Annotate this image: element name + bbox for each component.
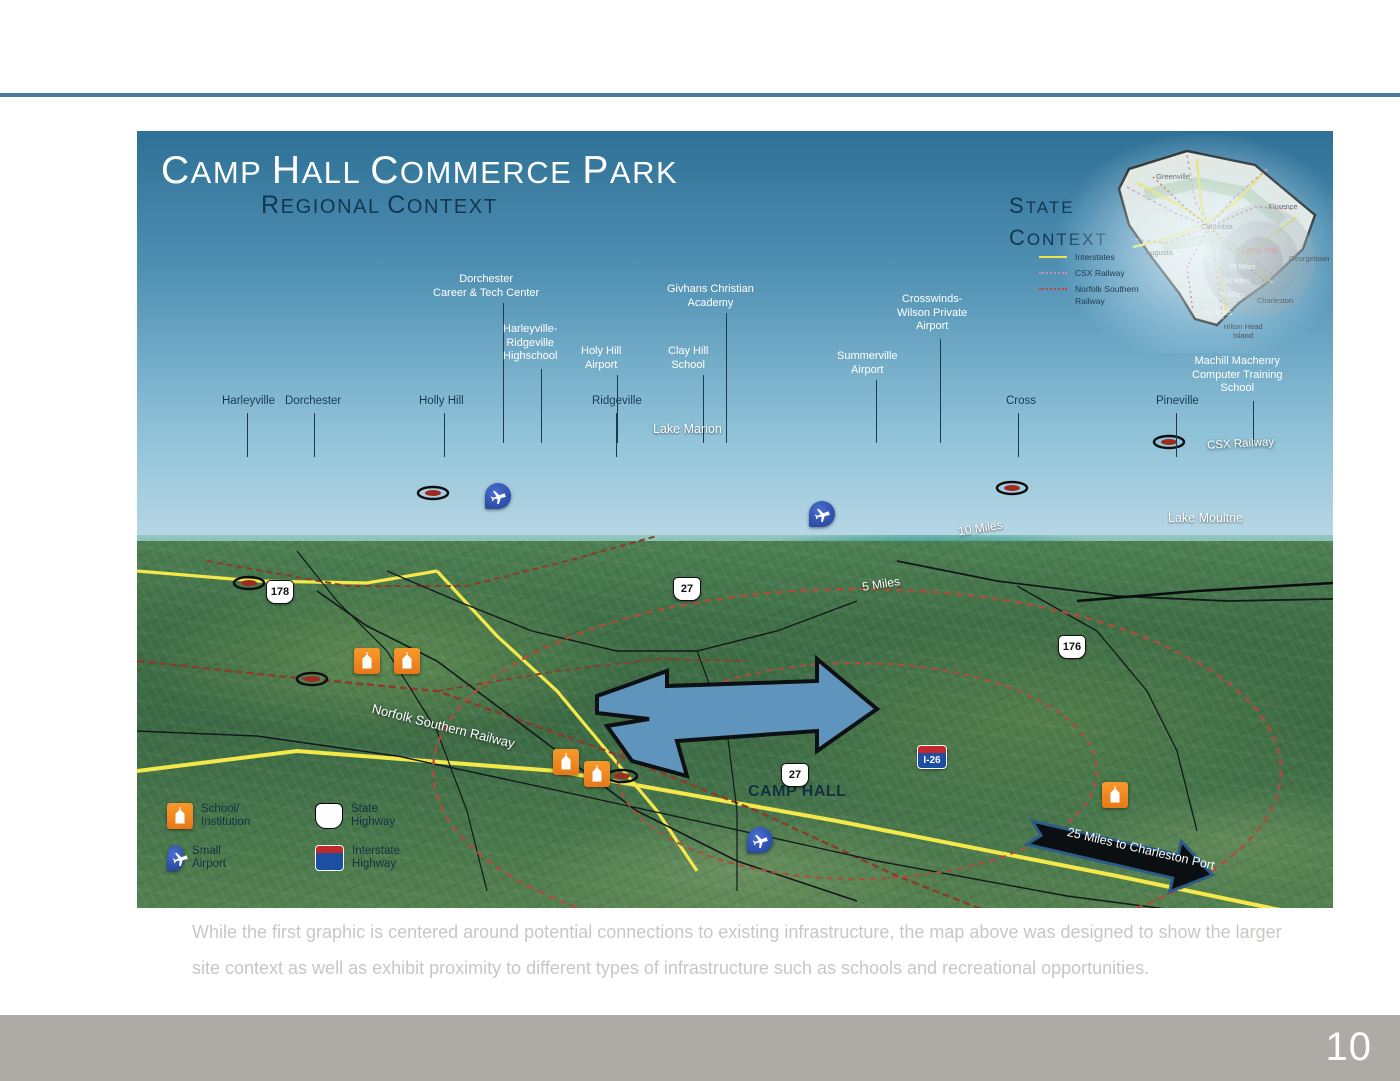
figure-caption: While the first graphic is centered arou… [192, 914, 1282, 986]
airport-marker-icon [747, 827, 773, 853]
legend-row-norfolk-southern: Norfolk Southern Railway [1039, 283, 1147, 307]
legend-label-csx: CSX Railway [1075, 267, 1125, 279]
city-label-harleyville: Harleyville [222, 395, 275, 407]
school-marker-icon [584, 761, 610, 787]
leader-line-pineville [1176, 413, 1177, 457]
leader-line-crosswinds-wilson-private-airport [940, 339, 941, 443]
map-legend-item-small-airport: Small Airport [167, 845, 235, 871]
csx-line-icon [1039, 267, 1067, 277]
state-context-inset: Camp Hall 25 Miles 50 Miles 75 Miles 100… [1067, 143, 1329, 343]
norfolk-southern-line-icon [1039, 283, 1067, 293]
interstate-highway-shield-icon [315, 845, 344, 871]
interstate-line-icon [1039, 251, 1067, 261]
page-number: 10 [1326, 1027, 1373, 1067]
highway-shield-27-south: 27 [781, 763, 809, 787]
school-icon [167, 803, 193, 829]
legend-label-norfolk-southern: Norfolk Southern Railway [1075, 283, 1147, 307]
document-page: CAMP HALL COMMERCE PARK REGIONAL CONTEXT… [0, 0, 1400, 1081]
map-subtitle: REGIONAL CONTEXT [261, 191, 498, 220]
place-label-lake-marion: Lake Marion [653, 422, 722, 436]
place-label-lake-moultrie: Lake Moultrie [1168, 511, 1243, 525]
leader-line-harleyville-ridgeville-highschool [541, 369, 542, 443]
leader-line-harleyville [247, 413, 248, 457]
state-context-legend: Interstates CSX Railway Norfolk Southern… [1039, 251, 1147, 311]
map-legend-label-state-highway: State Highway [351, 803, 395, 829]
school-marker-icon [394, 648, 420, 674]
regional-context-map: CAMP HALL COMMERCE PARK REGIONAL CONTEXT… [137, 131, 1333, 908]
city-label-ridgeville: Ridgeville [592, 395, 642, 407]
legend-row-csx: CSX Railway [1039, 267, 1147, 279]
callout-dorchester-career-tech: DorchesterCareer & Tech Center [433, 273, 539, 300]
callout-summerville-airport: SummervilleAirport [837, 350, 898, 377]
city-label-holly-hill: Holly Hill [419, 395, 464, 407]
interstate-shield-i26: I-26 [917, 745, 947, 769]
callout-crosswinds-wilson-private-airport: Crosswinds-Wilson PrivateAirport [897, 293, 967, 334]
leader-line-holy-hill-airport [617, 375, 618, 443]
airport-marker-icon [485, 483, 511, 509]
leader-line-cross [1018, 413, 1019, 457]
legend-label-interstates: Interstates [1075, 251, 1115, 263]
footer-bar [0, 1015, 1400, 1081]
callout-machill-machenry-school: Machill MachenryComputer TrainingSchool [1192, 355, 1283, 396]
map-legend-label-small-airport: Small Airport [192, 845, 235, 871]
city-label-pineville: Pineville [1156, 395, 1199, 407]
school-marker-icon [1102, 782, 1128, 808]
leader-line-holly-hill [444, 413, 445, 457]
map-legend-item-school: School/Institution [167, 803, 250, 829]
highway-shield-178: 178 [266, 580, 294, 604]
city-label-dorchester: Dorchester [285, 395, 341, 407]
highway-shield-176: 176 [1058, 635, 1086, 659]
map-legend-item-state-highway: State Highway [315, 803, 395, 829]
leader-line-dorchester [314, 413, 315, 457]
city-label-cross: Cross [1006, 395, 1036, 407]
school-marker-icon [553, 749, 579, 775]
airport-icon [167, 845, 184, 871]
leader-line-summerville-airport [876, 380, 877, 443]
state-highway-shield-icon [315, 803, 343, 829]
leader-line-givhans-christian-academy [726, 313, 727, 443]
callout-clay-hill-school: Clay HillSchool [668, 345, 708, 372]
map-title: CAMP HALL COMMERCE PARK [161, 149, 678, 193]
state-inset-glow [1057, 133, 1333, 353]
map-legend-label-school: School/Institution [201, 803, 250, 829]
airport-marker-icon [809, 501, 835, 527]
leader-line-ridgeville [616, 413, 617, 457]
callout-givhans-christian-academy: Givhans ChristianAcademy [667, 283, 754, 310]
highway-shield-27-north: 27 [673, 577, 701, 601]
callout-harleyville-ridgeville-highschool: Harleyville-RidgevilleHighschool [503, 323, 557, 364]
school-marker-icon [354, 648, 380, 674]
legend-row-interstates: Interstates [1039, 251, 1147, 263]
map-legend-label-interstate-highway: InterstateHighway [352, 845, 400, 871]
map-legend-item-interstate-highway: InterstateHighway [315, 845, 400, 871]
header-rule [0, 93, 1400, 97]
callout-holy-hill-airport: Holy HillAirport [581, 345, 621, 372]
